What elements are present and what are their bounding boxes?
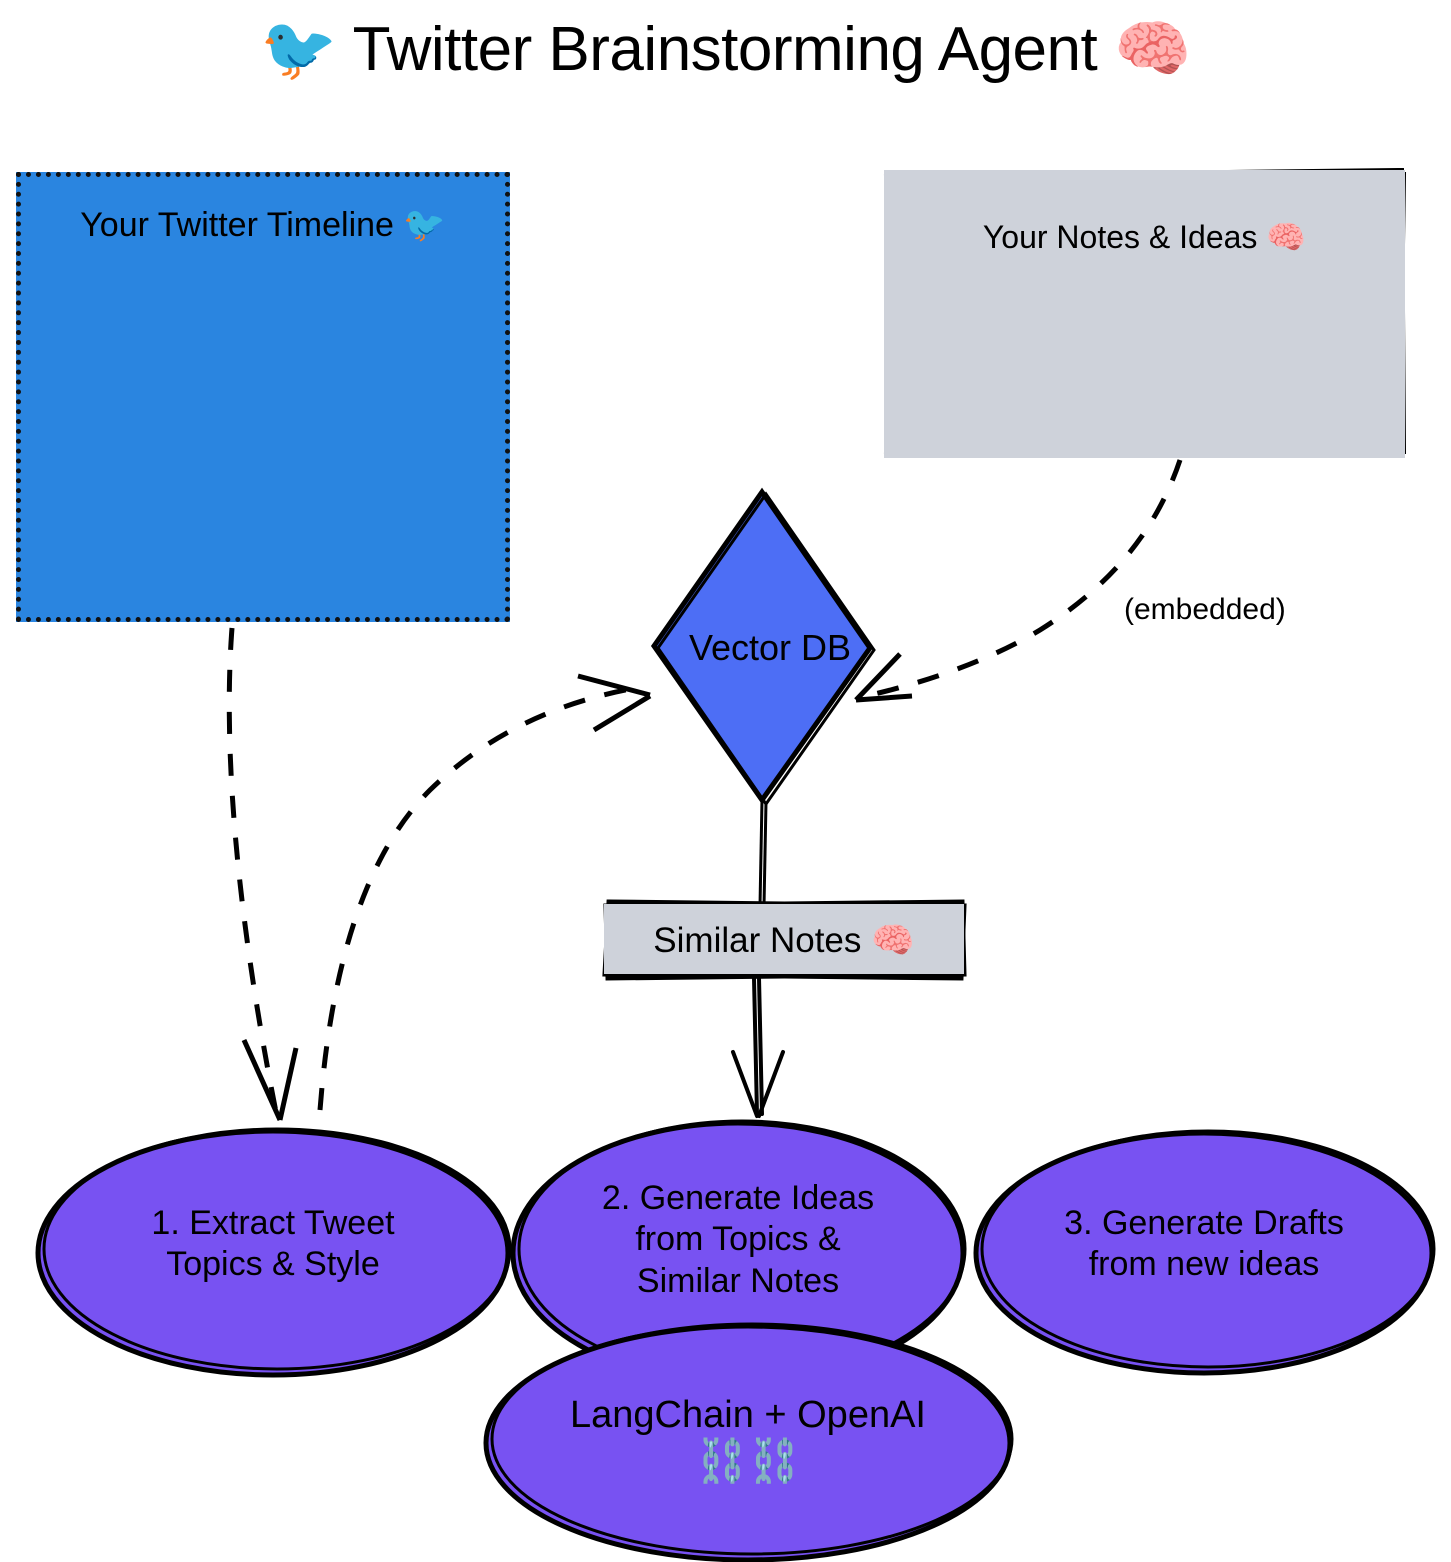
- notes-ideas-label: Your Notes & Ideas 🧠: [884, 218, 1405, 256]
- vector-db-label: Vector DB: [620, 627, 920, 669]
- edge-timeline-step1: [229, 628, 296, 1120]
- edge-vectordb-similarnotes: [760, 800, 766, 906]
- notes-ideas-box[interactable]: [884, 170, 1405, 458]
- edge-timeline-vectordb: [320, 676, 650, 1110]
- chain-link-icon: ⛓️⛓️: [484, 1440, 1012, 1482]
- step1-label: 1. Extract Tweet Topics & Style: [40, 1203, 506, 1286]
- edge-similarnotes-step2: [733, 978, 783, 1116]
- step3-label: 3. Generate Drafts from new ideas: [980, 1203, 1428, 1286]
- embedded-edge-label: (embedded): [1124, 593, 1286, 627]
- tooling-label: LangChain + OpenAI: [484, 1392, 1012, 1438]
- step2-label: 2. Generate Ideas from Topics & Similar …: [520, 1178, 956, 1302]
- twitter-timeline-label: Your Twitter Timeline 🐦: [16, 205, 510, 245]
- page-title: 🐦 Twitter Brainstorming Agent 🧠: [0, 16, 1451, 84]
- similar-notes-label: Similar Notes 🧠: [604, 920, 964, 961]
